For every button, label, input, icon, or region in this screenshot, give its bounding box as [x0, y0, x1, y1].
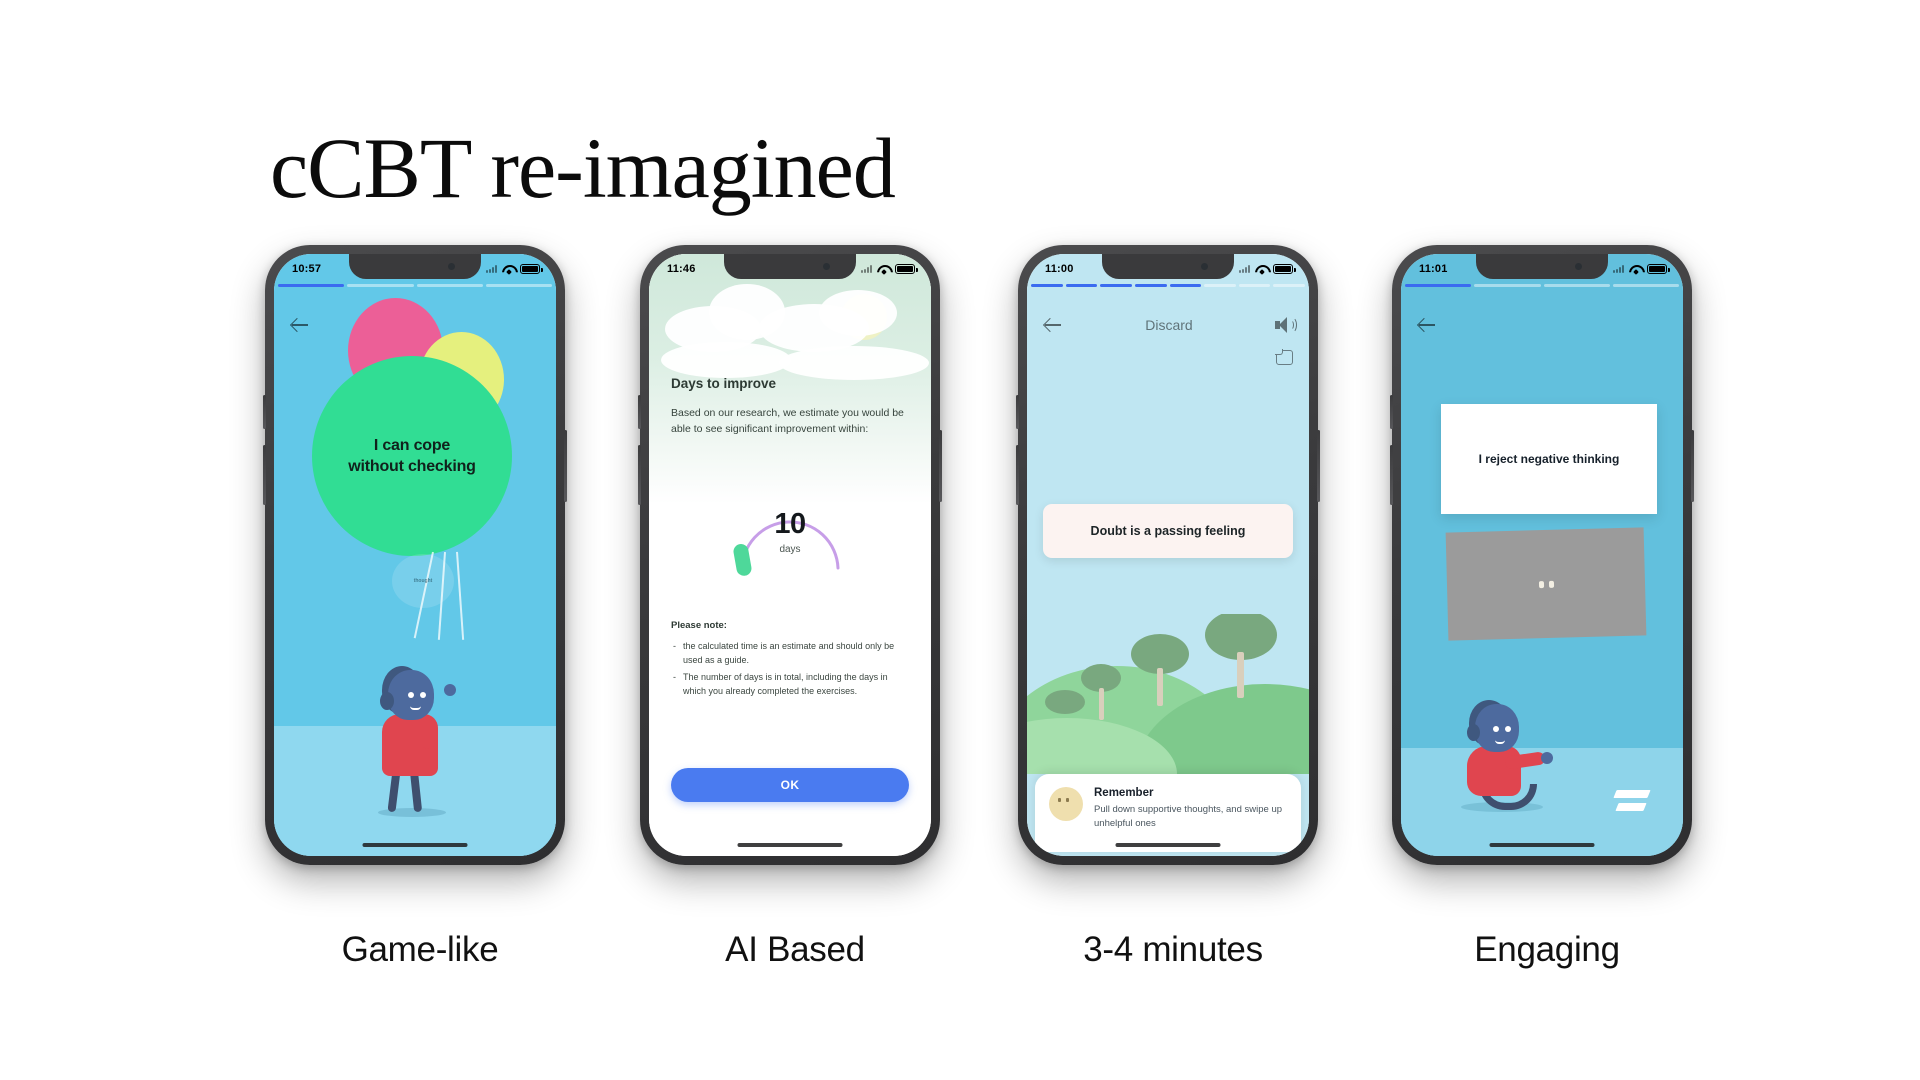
power-button[interactable]: [564, 430, 567, 502]
progress-segment: [1100, 284, 1132, 287]
tree: [1081, 664, 1121, 718]
screen-reject-negative-thinking: I reject negative thinking: [1401, 254, 1683, 856]
phone-screen: I reject negative thinking: [1401, 254, 1683, 856]
progress-segment: [1170, 284, 1202, 287]
landscape-scene: [1027, 614, 1309, 774]
status-time: 11:01: [1419, 263, 1448, 275]
notch: [349, 254, 481, 279]
remember-body: Pull down supportive thoughts, and swipe…: [1094, 803, 1287, 831]
gauge-unit: days: [724, 544, 856, 555]
progress-segment: [417, 284, 483, 287]
wifi-icon: [502, 264, 515, 274]
card-eyes-icon: [1538, 580, 1553, 587]
signal-icon: [861, 265, 872, 273]
phone-mockup-row: I can cope without checking thought: [0, 245, 1920, 885]
balloon-text-line2: without checking: [348, 456, 475, 477]
gauge-value: 10: [724, 508, 856, 541]
status-time: 11:46: [667, 263, 696, 275]
phone-frame: I reject negative thinking: [1392, 245, 1692, 865]
wifi-icon: [1255, 264, 1268, 274]
swipe-motion-icon: [1603, 790, 1649, 818]
home-indicator[interactable]: [1490, 843, 1595, 847]
bush: [1045, 690, 1085, 714]
lesson-progress-bar: [1401, 284, 1683, 287]
remember-panel: Remember Pull down supportive thoughts, …: [1035, 774, 1301, 852]
note-item: the calculated time is an estimate and s…: [683, 640, 909, 667]
nav-row: Discard: [1027, 308, 1309, 342]
faded-thought-text: thought: [414, 578, 433, 584]
power-button[interactable]: [939, 430, 942, 502]
progress-segment: [347, 284, 413, 287]
character-illustration: [1457, 698, 1577, 818]
wifi-icon: [877, 264, 890, 274]
battery-icon: [1647, 264, 1667, 274]
phone-mockup-engaging: I reject negative thinking: [1392, 245, 1702, 865]
home-indicator[interactable]: [363, 843, 468, 847]
progress-segment: [1204, 284, 1236, 287]
phone-mockup-game-like: I can cope without checking thought: [265, 245, 575, 865]
screen-discard: Doubt is a passing feeling Remember Pull…: [1027, 254, 1309, 856]
progress-segment: [1544, 284, 1610, 287]
battery-icon: [520, 264, 540, 274]
lesson-progress-bar: [1027, 284, 1309, 287]
progress-segment: [1474, 284, 1540, 287]
character-illustration: [372, 644, 482, 804]
arrow-left-icon[interactable]: [1417, 315, 1437, 335]
progress-segment: [1239, 284, 1271, 287]
thought-card[interactable]: Doubt is a passing feeling: [1043, 504, 1293, 558]
note-list: the calculated time is an estimate and s…: [671, 640, 909, 698]
balloon-green-thought[interactable]: I can cope without checking: [312, 356, 512, 556]
phone-screen: Doubt is a passing feeling Remember Pull…: [1027, 254, 1309, 856]
slide-canvas: cCBT re-imagined I can cope without chec…: [0, 0, 1920, 1080]
faded-thought-bubble: thought: [392, 554, 454, 608]
caption-game-like: Game-like: [265, 930, 575, 970]
phone-screen: I can cope without checking thought: [274, 254, 556, 856]
gauge-container: 10 days: [649, 474, 931, 594]
note-label: Please note:: [671, 620, 909, 631]
please-note-block: Please note: the calculated time is an e…: [671, 620, 909, 702]
progress-segment: [1135, 284, 1167, 287]
home-indicator[interactable]: [738, 843, 843, 847]
tree: [1205, 614, 1277, 696]
status-time: 11:00: [1045, 263, 1074, 275]
signal-icon: [1239, 265, 1250, 273]
arrow-left-icon[interactable]: [1043, 315, 1063, 335]
battery-icon: [1273, 264, 1293, 274]
signal-icon: [486, 265, 497, 273]
nav-row: [274, 308, 556, 342]
notch: [1476, 254, 1608, 279]
section-title: Days to improve: [671, 376, 909, 391]
page-title: cCBT re-imagined: [270, 118, 895, 218]
document-icon[interactable]: [1276, 350, 1293, 365]
progress-segment: [278, 284, 344, 287]
grey-card[interactable]: [1446, 527, 1647, 640]
caption-engaging: Engaging: [1392, 930, 1702, 970]
progress-segment: [486, 284, 552, 287]
screen-days-to-improve: Days to improve Based on our research, w…: [649, 254, 931, 856]
tree: [1131, 634, 1189, 704]
power-button[interactable]: [1317, 430, 1320, 502]
balloon-text: I can cope without checking: [348, 435, 475, 477]
screen-balloons: I can cope without checking thought: [274, 254, 556, 856]
affirmation-card[interactable]: I reject negative thinking: [1441, 404, 1657, 514]
face-avatar: [1049, 787, 1083, 821]
progress-segment: [1405, 284, 1471, 287]
notch: [724, 254, 856, 279]
speaker-icon[interactable]: [1275, 317, 1293, 333]
progress-segment: [1066, 284, 1098, 287]
battery-icon: [895, 264, 915, 274]
phone-frame: I can cope without checking thought: [265, 245, 565, 865]
progress-segment: [1273, 284, 1305, 287]
intro-text-block: Days to improve Based on our research, w…: [649, 376, 931, 438]
nav-row: [1401, 308, 1683, 342]
phone-frame: Days to improve Based on our research, w…: [640, 245, 940, 865]
note-item: The number of days is in total, includin…: [683, 671, 909, 698]
arrow-left-icon[interactable]: [290, 315, 310, 335]
phone-frame: Doubt is a passing feeling Remember Pull…: [1018, 245, 1318, 865]
section-body: Based on our research, we estimate you w…: [671, 405, 909, 438]
power-button[interactable]: [1691, 430, 1694, 502]
progress-segment: [1031, 284, 1063, 287]
phone-mockup-ai-based: Days to improve Based on our research, w…: [640, 245, 950, 865]
ok-button[interactable]: OK: [671, 768, 909, 802]
status-time: 10:57: [292, 263, 321, 275]
wifi-icon: [1629, 264, 1642, 274]
balloon-text-line1: I can cope: [348, 435, 475, 456]
signal-icon: [1613, 265, 1624, 273]
notch: [1102, 254, 1234, 279]
phone-screen: Days to improve Based on our research, w…: [649, 254, 931, 856]
caption-ai-based: AI Based: [640, 930, 950, 970]
remember-title: Remember: [1094, 787, 1287, 799]
progress-segment: [1613, 284, 1679, 287]
phone-mockup-3-4-minutes: Doubt is a passing feeling Remember Pull…: [1018, 245, 1328, 865]
caption-3-4-minutes: 3-4 minutes: [1018, 930, 1328, 970]
nav-title: Discard: [1063, 317, 1275, 333]
home-indicator[interactable]: [1116, 843, 1221, 847]
days-gauge: 10 days: [724, 474, 856, 592]
lesson-progress-bar: [274, 284, 556, 287]
